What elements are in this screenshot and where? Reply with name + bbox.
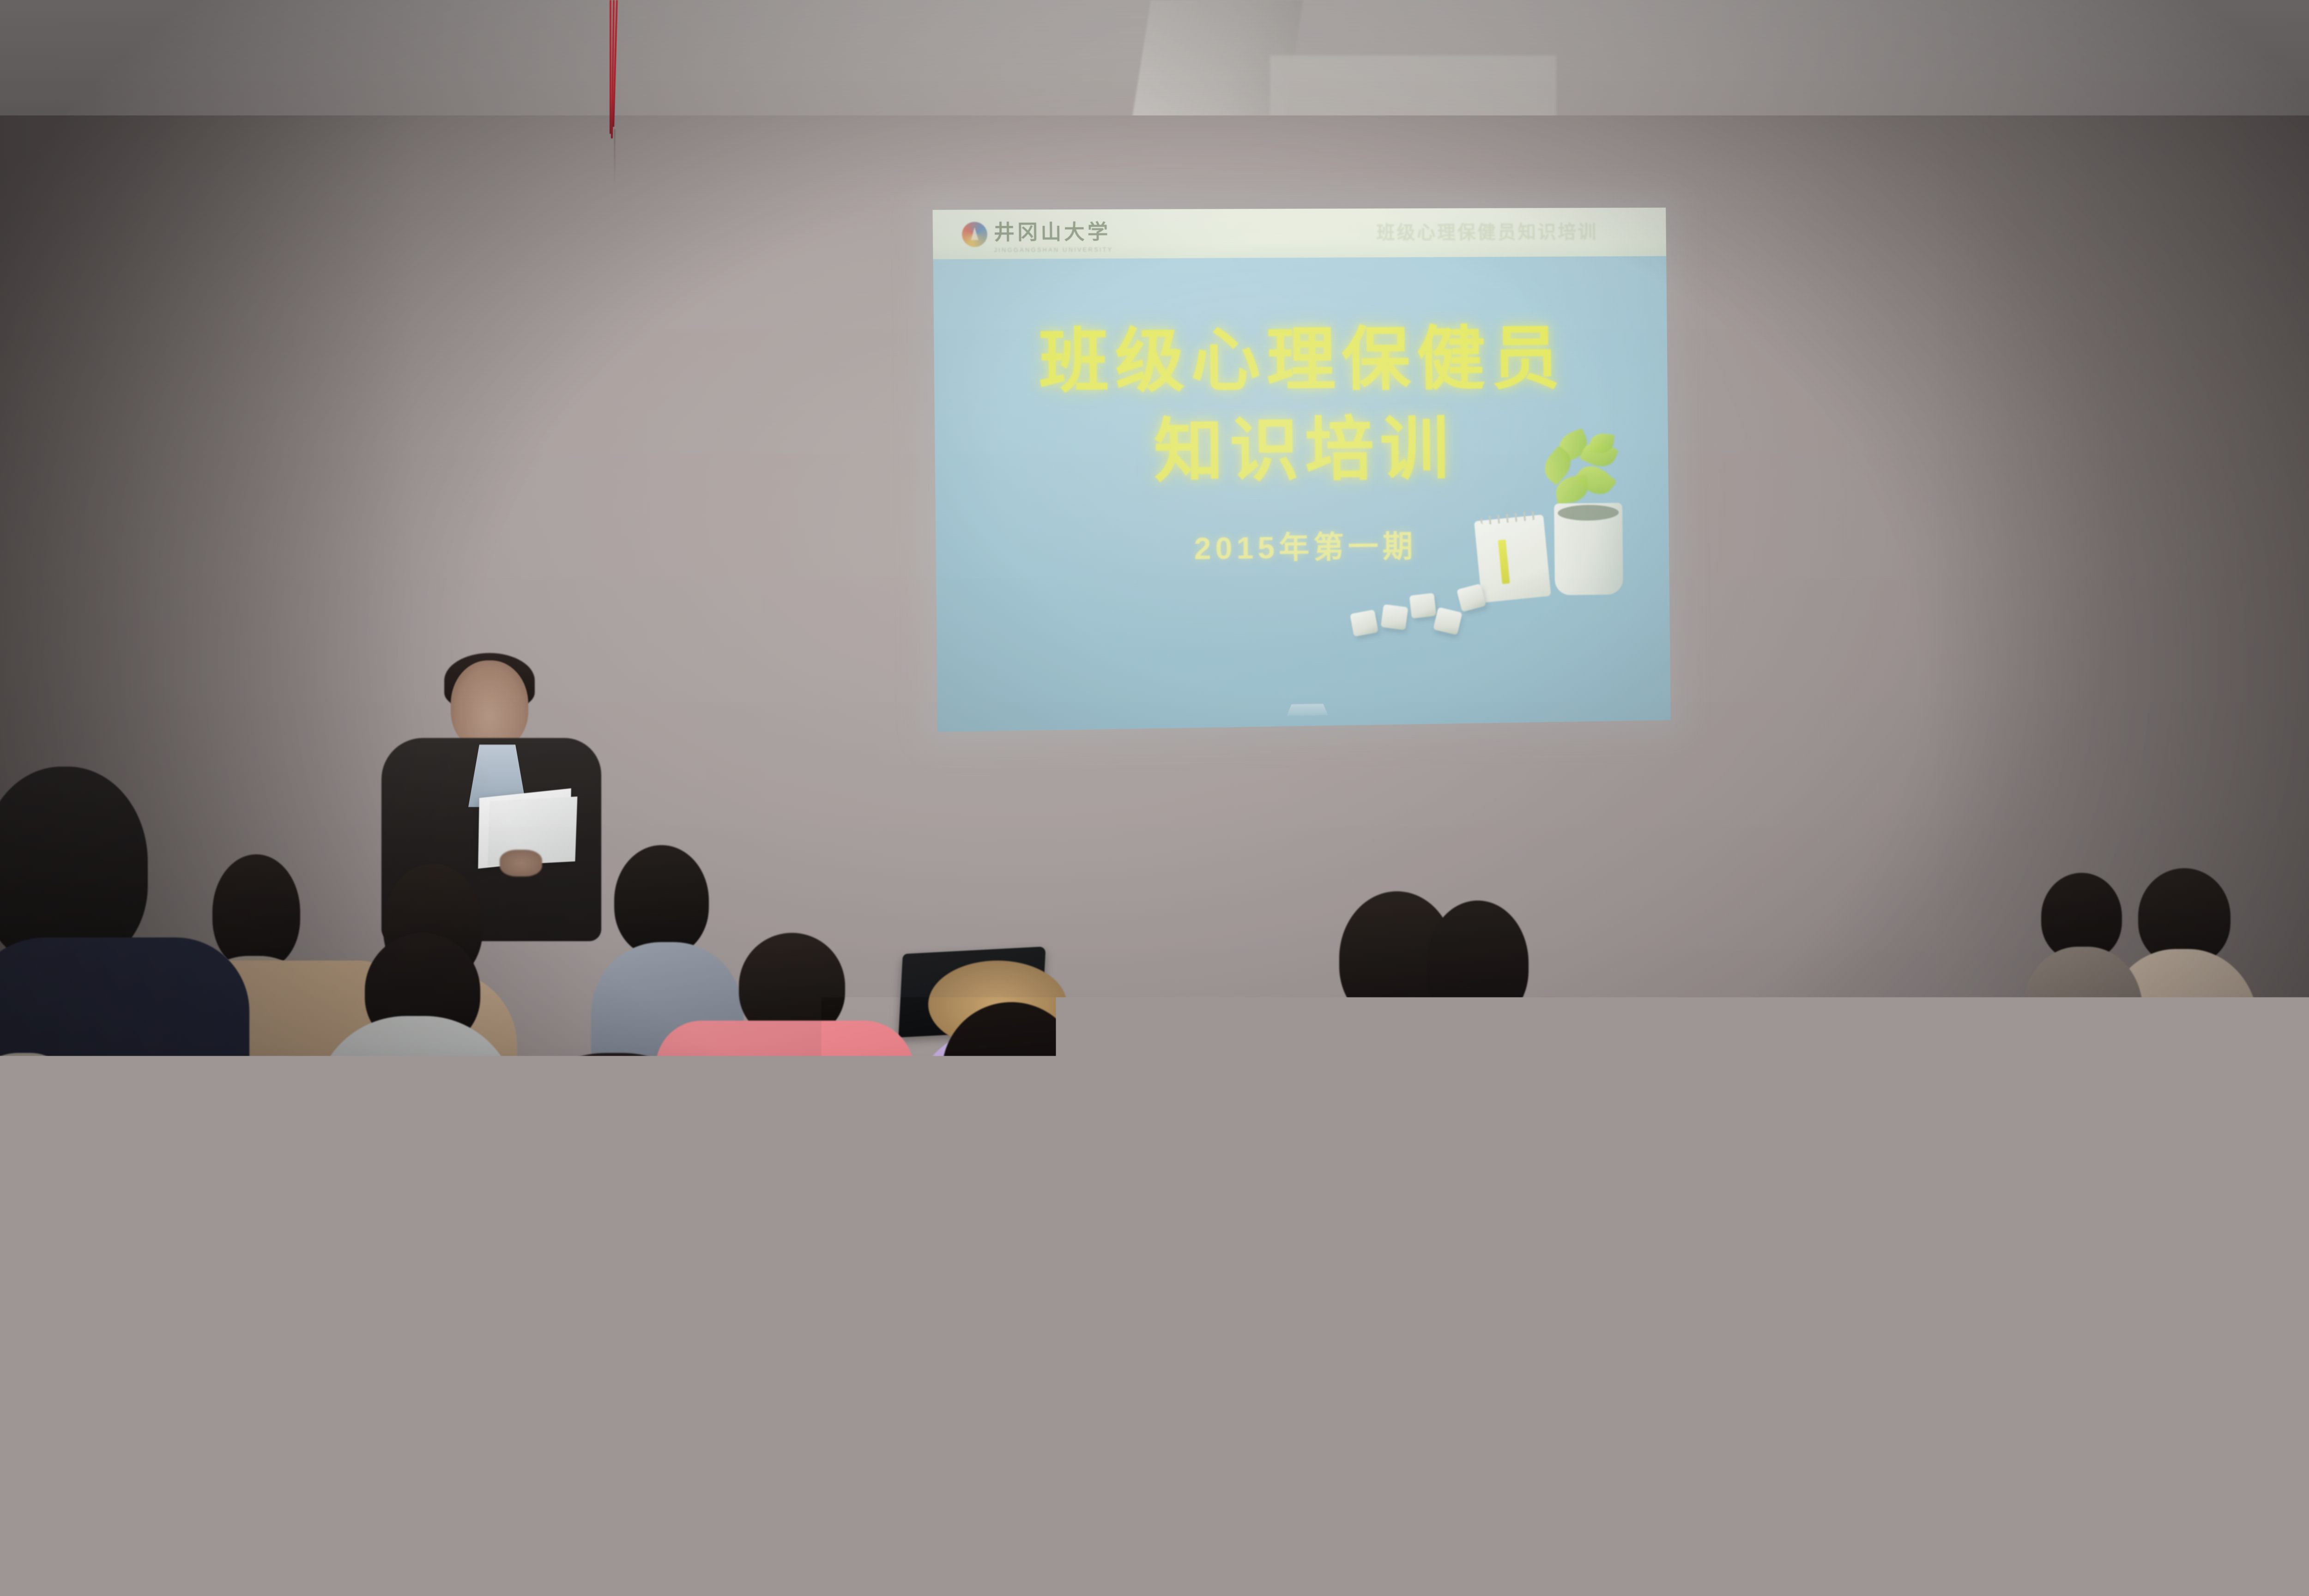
person-head [0,767,148,965]
wall-outlet-icon [1614,1219,1653,1248]
slide-surface: 井冈山大学 JINGGANGSHAN UNIVERSITY 班级心理保健员知识培… [932,208,1670,732]
red-tassel-icon [609,0,619,139]
projection-screen: 井冈山大学 JINGGANGSHAN UNIVERSITY 班级心理保健员知识培… [932,208,1670,732]
university-logo: 井冈山大学 JINGGANGSHAN UNIVERSITY [933,215,1113,254]
person-head [0,1455,212,1596]
seat-right-3 [2040,1376,2237,1451]
audience-person [2226,1395,2309,1596]
flower-pot-icon [1554,503,1623,595]
audience-person [0,767,259,1367]
classroom-photo-scene: 井冈山大学 JINGGANGSHAN UNIVERSITY 班级心理保健员知识培… [0,0,2309,1596]
slide-decoration-group [1340,405,1635,638]
handbag [2106,1048,2217,1187]
audience-person [1413,901,1589,1168]
presenter-head [451,660,528,751]
audience-person [240,1053,924,1596]
keycap-icon [1350,610,1378,637]
keycap-icon [1433,607,1463,635]
logo-name-en: JINGGANGSHAN UNIVERSITY [994,246,1113,253]
keycap-icon [1381,604,1408,630]
desk-front-foreground [1005,1483,1525,1596]
handbag-strap [2117,1048,2205,1099]
plug-icon [1656,1223,1674,1243]
university-crest-icon [962,222,987,247]
logo-name-cn: 井冈山大学 [994,215,1113,245]
audience-person [0,1455,212,1596]
notepad-icon [1474,514,1551,603]
keycap-icon [1409,593,1437,619]
slide-header-band: 井冈山大学 JINGGANGSHAN UNIVERSITY 班级心理保健员知识培… [932,208,1666,260]
pencil-icon [1498,539,1510,584]
collar-fur [0,1053,79,1191]
slide-title-line-1: 班级心理保健员 [934,313,1668,408]
person-torso [240,1339,924,1596]
fur-trim [1505,997,1593,1048]
slide-header-right-text: 班级心理保健员知识培训 [1376,217,1598,244]
audience-person [2023,873,2143,1076]
slide-footer-mark [1287,703,1328,716]
tassel-string [614,129,615,185]
hood-stripe [1039,1141,1118,1261]
person-torso [2226,1395,2309,1596]
